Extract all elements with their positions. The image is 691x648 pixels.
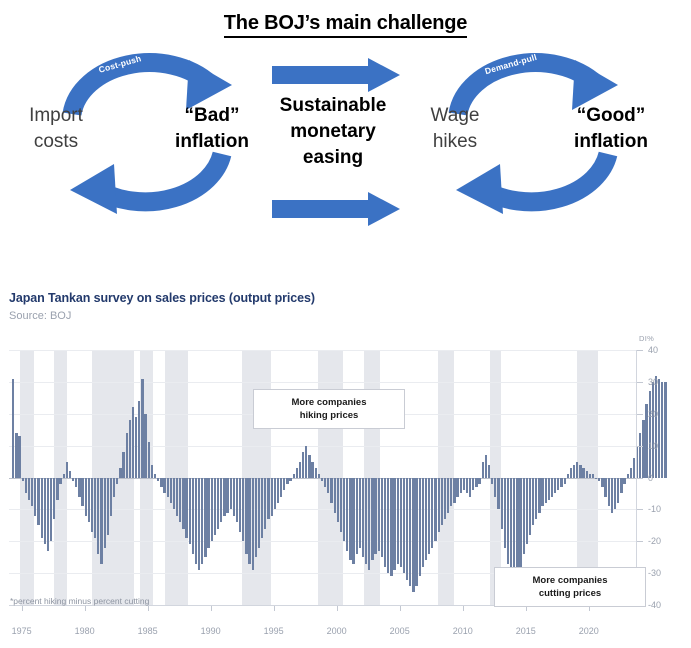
bar	[280, 478, 282, 497]
node-import-costs-line1: Import	[0, 103, 112, 129]
bar	[661, 382, 663, 478]
bar	[220, 478, 222, 523]
bar	[639, 433, 641, 478]
boj-challenge-diagram: The BOJ’s main challenge Cost-push Deman…	[0, 0, 691, 258]
node-bad-inflation-line2: inflation	[150, 129, 274, 155]
bar	[34, 478, 36, 516]
bar	[148, 442, 150, 477]
bar	[236, 478, 238, 523]
bar	[255, 478, 257, 558]
bar	[185, 478, 187, 539]
bar	[595, 478, 597, 479]
bar	[56, 478, 58, 500]
bar	[526, 478, 528, 545]
bar	[623, 478, 625, 484]
bar	[567, 474, 569, 477]
bar	[630, 468, 632, 478]
x-tick	[22, 606, 23, 611]
bar	[611, 478, 613, 513]
bar	[72, 478, 74, 481]
bar	[78, 478, 80, 497]
bar	[189, 478, 191, 545]
x-tick	[337, 606, 338, 611]
x-tick	[85, 606, 86, 611]
bar	[204, 478, 206, 558]
y-tick	[637, 382, 643, 383]
bar	[664, 382, 666, 478]
bar	[167, 478, 169, 497]
bar	[324, 478, 326, 488]
node-import-costs-line2: costs	[0, 129, 112, 155]
bar	[289, 478, 291, 481]
x-tick-label: 2000	[327, 626, 347, 636]
x-tick-label: 1985	[138, 626, 158, 636]
y-tick-label: -40	[648, 600, 661, 610]
bar	[195, 478, 197, 564]
bar	[620, 478, 622, 494]
bar	[343, 478, 345, 542]
bar	[223, 478, 225, 516]
node-bad-inflation-line1: “Bad”	[150, 103, 274, 129]
bar	[614, 478, 616, 510]
node-wage-hikes: Wage hikes	[405, 103, 505, 155]
bar	[91, 478, 93, 532]
bar	[497, 478, 499, 510]
bar	[554, 478, 556, 494]
bar	[293, 474, 295, 477]
bar	[601, 478, 603, 488]
bar	[633, 458, 635, 477]
bar	[504, 478, 506, 548]
bar	[576, 462, 578, 478]
bar	[176, 478, 178, 516]
bar	[41, 478, 43, 539]
bar	[217, 478, 219, 529]
node-sustainable-monetary-easing: Sustainable monetary easing	[262, 93, 404, 171]
x-tick-label: 2005	[390, 626, 410, 636]
node-wage-hikes-line1: Wage	[405, 103, 505, 129]
x-tick-label: 1975	[12, 626, 32, 636]
bar	[586, 471, 588, 477]
bar	[107, 478, 109, 535]
bar	[491, 478, 493, 484]
bar	[261, 478, 263, 539]
bar	[356, 478, 358, 555]
x-tick	[463, 606, 464, 611]
x-tick	[274, 606, 275, 611]
bar	[450, 478, 452, 507]
bar	[541, 478, 543, 507]
bar	[318, 474, 320, 477]
bar	[88, 478, 90, 523]
node-import-costs: Import costs	[0, 103, 112, 155]
bar	[494, 478, 496, 497]
bar	[608, 478, 610, 507]
bar	[573, 465, 575, 478]
bar	[510, 478, 512, 574]
bar	[66, 462, 68, 478]
bar	[192, 478, 194, 555]
bar	[393, 478, 395, 570]
bar	[286, 478, 288, 484]
bar	[28, 478, 30, 500]
bar	[233, 478, 235, 516]
bar	[371, 478, 373, 561]
bar	[617, 478, 619, 504]
callout-cutting-line2: cutting prices	[505, 587, 635, 600]
bar	[31, 478, 33, 507]
bar	[532, 478, 534, 526]
bar	[198, 478, 200, 570]
bar	[340, 478, 342, 532]
chart-title: Japan Tankan survey on sales prices (out…	[9, 291, 315, 305]
bar	[214, 478, 216, 535]
callout-cutting-prices: More companies cutting prices	[494, 567, 646, 607]
bar	[460, 478, 462, 494]
y-tick-label: -30	[648, 568, 661, 578]
bar	[267, 478, 269, 519]
tankan-chart: Japan Tankan survey on sales prices (out…	[0, 258, 691, 648]
y-tick-label: 40	[648, 345, 658, 355]
bar	[472, 478, 474, 491]
bar	[163, 478, 165, 494]
bar	[431, 478, 433, 548]
bar	[239, 478, 241, 532]
bar	[12, 379, 14, 478]
bar	[419, 478, 421, 577]
arrow-right-icon	[272, 58, 400, 92]
y-tick	[637, 350, 643, 351]
node-easing-line3: easing	[262, 145, 404, 171]
bar	[513, 478, 515, 580]
bar	[349, 478, 351, 561]
bar	[173, 478, 175, 510]
node-wage-hikes-line2: hikes	[405, 129, 505, 155]
bar	[400, 478, 402, 567]
bar	[144, 414, 146, 478]
bar	[97, 478, 99, 555]
bar	[428, 478, 430, 555]
bar	[374, 478, 376, 555]
bar	[519, 478, 521, 567]
bar	[135, 417, 137, 478]
x-tick	[148, 606, 149, 611]
bar	[141, 379, 143, 478]
bar	[85, 478, 87, 516]
y-tick-label: 20	[648, 409, 658, 419]
bar	[362, 478, 364, 558]
bar	[434, 478, 436, 542]
bar	[116, 478, 118, 484]
y-tick-label: -20	[648, 536, 661, 546]
node-bad-inflation: “Bad” inflation	[150, 103, 274, 155]
y-tick	[637, 509, 643, 510]
bar	[330, 478, 332, 504]
node-good-inflation-line2: inflation	[540, 129, 682, 155]
bar	[627, 474, 629, 477]
bar	[211, 478, 213, 542]
bar	[538, 478, 540, 513]
bar	[535, 478, 537, 519]
node-easing-line2: monetary	[262, 119, 404, 145]
x-tick-label: 2015	[516, 626, 536, 636]
bar	[415, 478, 417, 586]
bar	[264, 478, 266, 529]
bar	[283, 478, 285, 491]
bar	[271, 478, 273, 516]
bar	[381, 478, 383, 558]
bar	[482, 462, 484, 478]
bar	[469, 478, 471, 497]
bar	[422, 478, 424, 567]
bar	[488, 465, 490, 478]
bar	[516, 478, 518, 577]
bar	[327, 478, 329, 494]
callout-hiking-prices: More companies hiking prices	[253, 389, 405, 429]
bar	[359, 478, 361, 548]
bar	[649, 391, 651, 477]
bar	[151, 465, 153, 478]
bar	[475, 478, 477, 488]
bar	[22, 478, 24, 481]
callout-hiking-line2: hiking prices	[264, 409, 394, 422]
bar	[652, 382, 654, 478]
bar	[226, 478, 228, 513]
bar	[104, 478, 106, 548]
y-tick	[637, 414, 643, 415]
bar	[334, 478, 336, 513]
bar	[94, 478, 96, 539]
bar	[390, 478, 392, 577]
bar	[453, 478, 455, 504]
bar	[321, 478, 323, 481]
bar	[655, 376, 657, 478]
bar	[311, 462, 313, 478]
bar	[129, 420, 131, 477]
bar	[501, 478, 503, 529]
bar	[299, 462, 301, 478]
bar	[557, 478, 559, 491]
bar	[37, 478, 39, 526]
bar	[368, 478, 370, 570]
bar	[59, 478, 61, 484]
bar	[248, 478, 250, 564]
bar	[560, 478, 562, 488]
bar	[564, 478, 566, 484]
x-tick-label: 1990	[201, 626, 221, 636]
bar	[570, 468, 572, 478]
bar	[170, 478, 172, 504]
bar	[438, 478, 440, 532]
bar	[485, 455, 487, 477]
x-tick	[400, 606, 401, 611]
bar	[425, 478, 427, 561]
y-tick	[637, 446, 643, 447]
bar	[579, 465, 581, 478]
bar	[277, 478, 279, 504]
bar	[252, 478, 254, 570]
bar	[296, 468, 298, 478]
bar	[456, 478, 458, 497]
bar	[305, 446, 307, 478]
bar	[50, 478, 52, 542]
center-top-arrow	[272, 58, 400, 97]
bar	[110, 478, 112, 516]
bar	[384, 478, 386, 567]
bar	[346, 478, 348, 551]
bar	[548, 478, 550, 500]
bar	[403, 478, 405, 574]
bar	[592, 474, 594, 477]
bar	[478, 478, 480, 484]
bar	[444, 478, 446, 519]
bar	[302, 452, 304, 478]
bar	[507, 478, 509, 564]
bar	[69, 471, 71, 477]
bar	[642, 420, 644, 477]
bar	[589, 474, 591, 477]
bar	[545, 478, 547, 504]
bar	[412, 478, 414, 593]
diagram-title: The BOJ’s main challenge	[0, 12, 691, 35]
bar	[598, 478, 600, 481]
x-tick-label: 1980	[75, 626, 95, 636]
y-tick	[637, 541, 643, 542]
bar	[352, 478, 354, 564]
node-good-inflation: “Good” inflation	[540, 103, 682, 155]
diagram-title-text: The BOJ’s main challenge	[224, 12, 467, 38]
bar	[308, 455, 310, 477]
bar	[179, 478, 181, 523]
bar	[53, 478, 55, 519]
arrow-right-icon	[272, 192, 400, 226]
bar	[274, 478, 276, 510]
y-tick	[637, 478, 643, 479]
bar	[447, 478, 449, 513]
y-tick-label: 10	[648, 441, 658, 451]
bar	[201, 478, 203, 564]
callout-hiking-line1: More companies	[264, 396, 394, 409]
bar	[47, 478, 49, 551]
bar	[387, 478, 389, 574]
bar	[258, 478, 260, 548]
bar	[365, 478, 367, 564]
y-tick-label: 0	[648, 473, 653, 483]
bar	[81, 478, 83, 507]
bar	[100, 478, 102, 564]
bar	[463, 478, 465, 491]
node-good-inflation-line1: “Good”	[540, 103, 682, 129]
x-tick-label: 2010	[453, 626, 473, 636]
y-tick-label: 30	[648, 377, 658, 387]
bar	[441, 478, 443, 526]
x-tick-label: 1995	[264, 626, 284, 636]
x-tick	[211, 606, 212, 611]
bar	[113, 478, 115, 497]
bar	[551, 478, 553, 497]
bar	[604, 478, 606, 497]
bar	[15, 433, 17, 478]
bar	[160, 478, 162, 488]
bar	[44, 478, 46, 545]
chart-footnote: *percent hiking minus percent cutting	[10, 596, 149, 606]
bar	[466, 478, 468, 494]
bar	[397, 478, 399, 564]
bar	[25, 478, 27, 494]
bar	[157, 478, 159, 481]
bar	[154, 474, 156, 477]
center-bottom-arrow	[272, 192, 400, 231]
bar	[523, 478, 525, 555]
bar	[315, 468, 317, 478]
bar	[182, 478, 184, 529]
bar	[18, 436, 20, 477]
bar	[378, 478, 380, 551]
bar	[119, 468, 121, 478]
bar	[63, 474, 65, 477]
bar	[126, 433, 128, 478]
bar	[230, 478, 232, 510]
bar	[132, 407, 134, 477]
bar	[529, 478, 531, 535]
bar	[138, 401, 140, 478]
bar	[207, 478, 209, 548]
x-tick-label: 2020	[579, 626, 599, 636]
y-axis-unit-label: DI%	[639, 334, 654, 343]
bar	[409, 478, 411, 586]
bar	[122, 452, 124, 478]
bar	[406, 478, 408, 580]
bar	[75, 478, 77, 488]
bar	[337, 478, 339, 523]
bar	[245, 478, 247, 555]
y-tick-label: -10	[648, 504, 661, 514]
bar	[582, 468, 584, 478]
bar	[242, 478, 244, 542]
bar	[658, 379, 660, 478]
callout-cutting-line1: More companies	[505, 574, 635, 587]
chart-source: Source: BOJ	[9, 310, 71, 322]
